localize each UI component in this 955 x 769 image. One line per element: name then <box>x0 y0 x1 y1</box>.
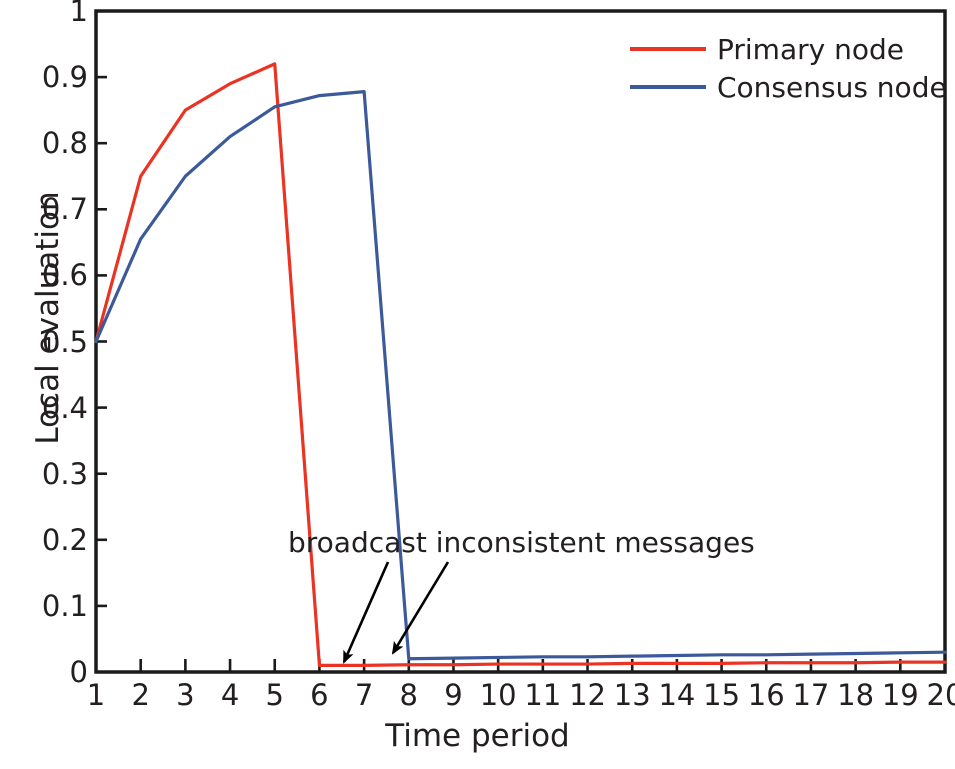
annotation-label: broadcast inconsistent messages <box>288 526 755 559</box>
plot-frame <box>96 11 945 672</box>
plot-area <box>0 0 955 769</box>
series-line-1 <box>96 92 945 659</box>
legend-item-label: Primary node <box>717 33 904 66</box>
axis-ticks <box>96 77 900 672</box>
legend-item-label: Consensus node <box>717 71 947 104</box>
annotation-arrows <box>344 562 448 662</box>
data-series <box>96 64 945 666</box>
annotation-arrow-0 <box>344 562 388 662</box>
chart-legend: Primary nodeConsensus node <box>630 30 947 106</box>
legend-swatch-line <box>630 47 706 51</box>
legend-item[interactable]: Consensus node <box>630 68 947 106</box>
series-line-0 <box>96 64 945 666</box>
axis-frame <box>96 11 945 672</box>
legend-item[interactable]: Primary node <box>630 30 947 68</box>
legend-swatch-line <box>630 85 706 89</box>
chart-figure: Local evaluation Time period 00.10.20.30… <box>0 0 955 769</box>
